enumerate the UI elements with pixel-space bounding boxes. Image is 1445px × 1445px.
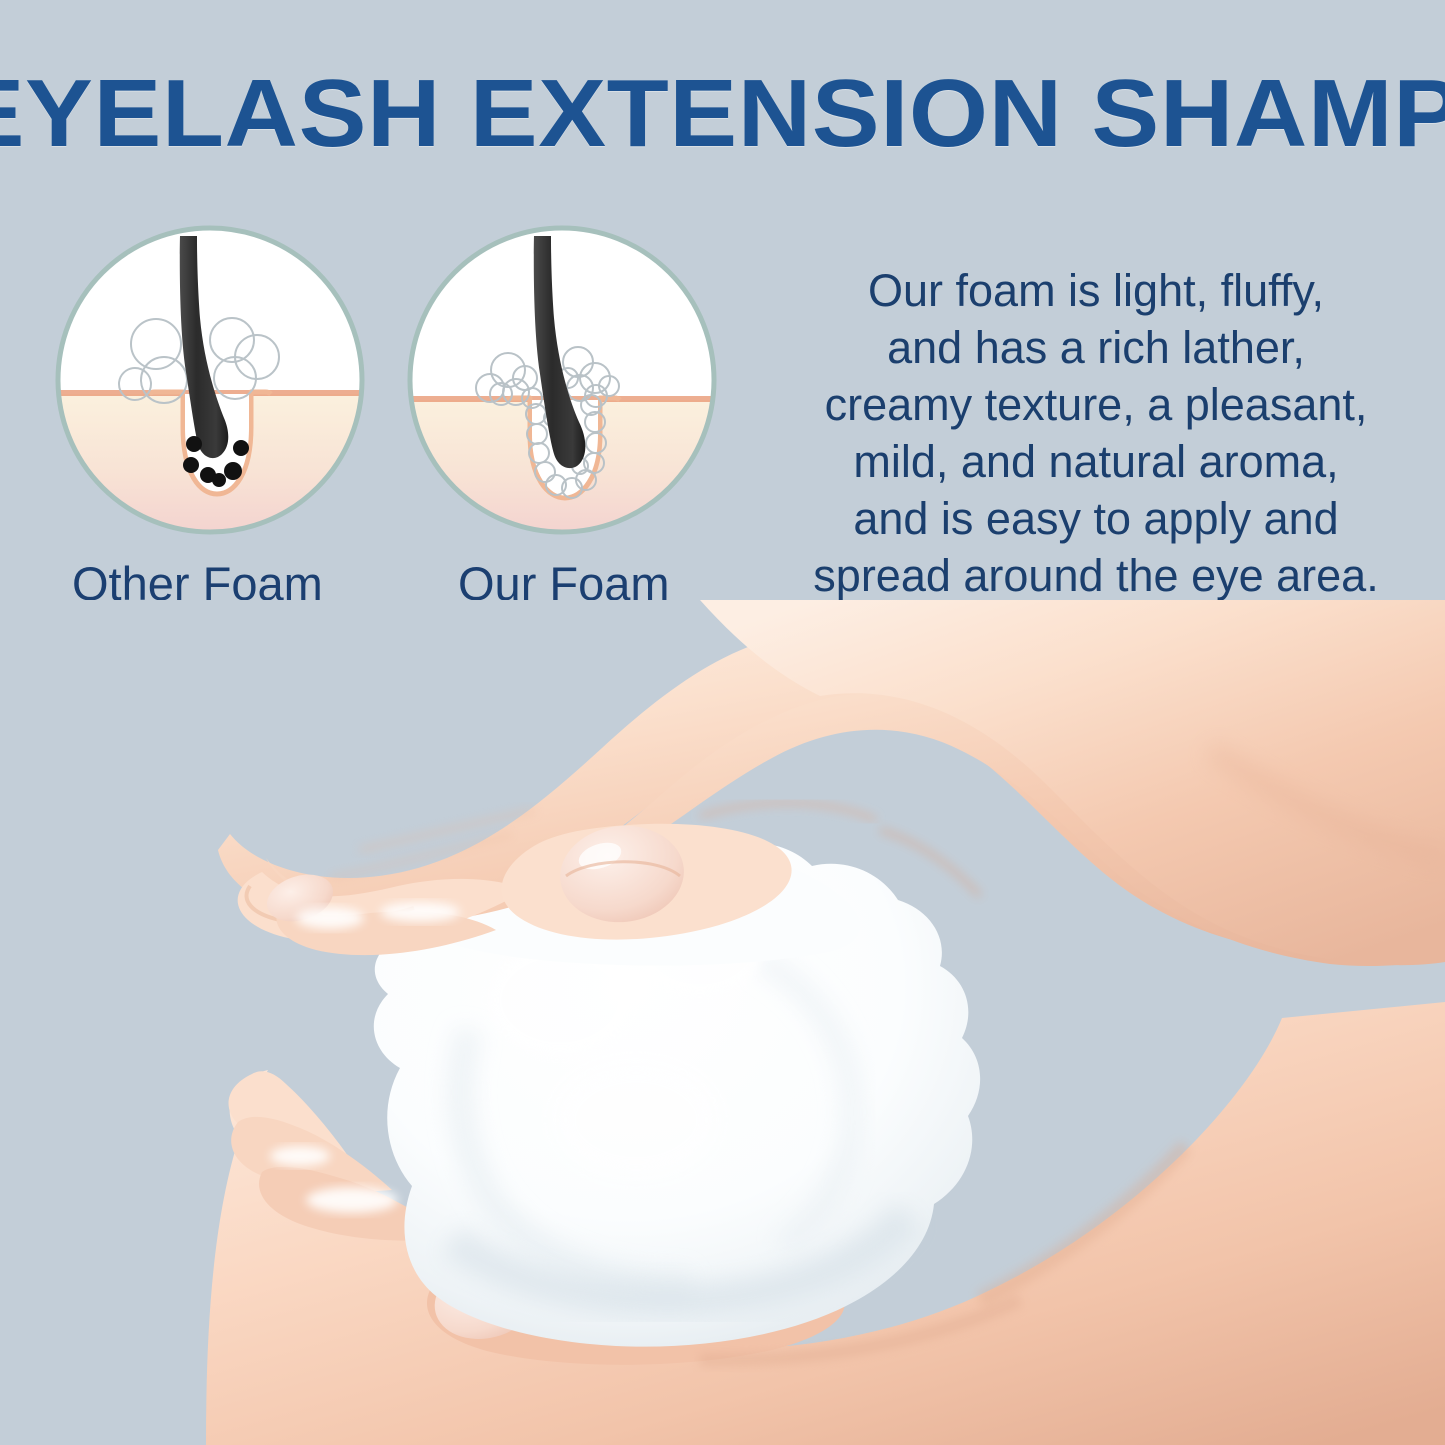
hands-holding-foam-photo <box>0 600 1445 1445</box>
description-line: and is easy to apply and <box>786 490 1406 547</box>
description-line: and has a rich lather, <box>786 319 1406 376</box>
our-foam-illustration <box>404 222 720 538</box>
description-line: spread around the eye area. <box>786 547 1406 604</box>
product-description: Our foam is light, fluffy, and has a ric… <box>786 262 1406 604</box>
product-infographic: EYELASH EXTENSION SHAMPOO <box>0 0 1445 1445</box>
description-line: Our foam is light, fluffy, <box>786 262 1406 319</box>
other-foam-illustration <box>52 222 368 538</box>
comparison-diagram-other-foam <box>52 222 368 538</box>
comparison-diagram-our-foam <box>404 222 720 538</box>
page-title: EYELASH EXTENSION SHAMPOO <box>0 62 1445 166</box>
description-line: creamy texture, a pleasant, <box>786 376 1406 433</box>
description-line: mild, and natural aroma, <box>786 433 1406 490</box>
